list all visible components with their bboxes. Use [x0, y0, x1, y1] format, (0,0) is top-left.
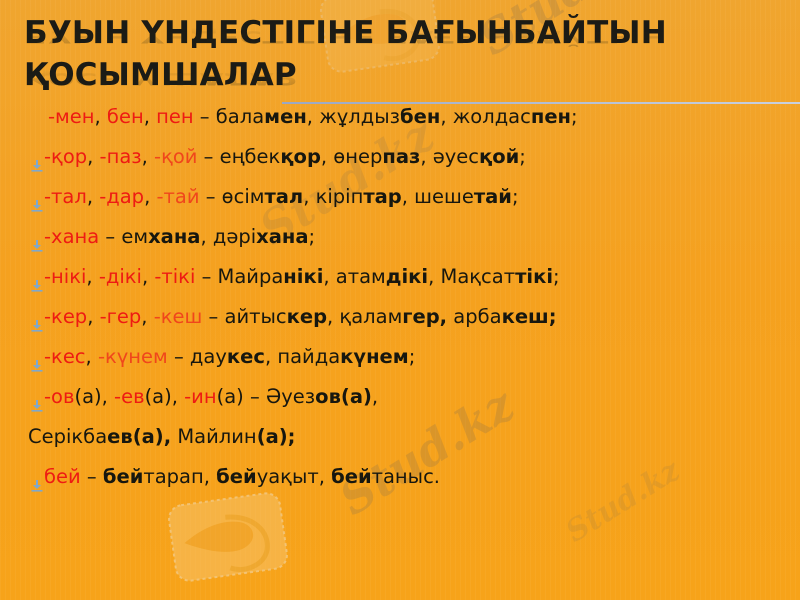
text-fragment: , [144, 185, 156, 208]
download-bullet-icon [30, 234, 44, 248]
download-bullet-icon [30, 394, 44, 408]
text-fragment: , [87, 185, 99, 208]
line-qor-paz-qoy: -қор, -паз, -қой – еңбекқор, өнерпаз, әу… [0, 144, 800, 184]
text-fragment: – бала [194, 105, 265, 128]
text-fragment: , [141, 305, 153, 328]
text-fragment: , жолдас [440, 105, 531, 128]
text-fragment: -кес [44, 345, 86, 368]
text-fragment: мен [55, 105, 94, 128]
text-fragment: арба [447, 305, 502, 328]
text-fragment: қой [479, 145, 519, 168]
text-fragment: , [87, 145, 99, 168]
text-fragment: -ев [114, 385, 145, 408]
text-fragment: -ов [44, 385, 74, 408]
slide-title: Буын үндестігіне бағынбайтын Буын үндест… [24, 14, 780, 98]
text-fragment: , дәрі [200, 225, 256, 248]
text-fragment: – Майра [195, 265, 283, 288]
title-line-2-wrap: қосымшалар қосымшалар [24, 56, 780, 98]
text-fragment: ев(а), [107, 425, 171, 448]
line-text: Серікбаев(а), Майлин(а); [28, 424, 295, 450]
line-text: -кес, -күнем – даукес, пайдакүнем; [28, 344, 415, 370]
text-fragment: (а), [74, 385, 114, 408]
line-text: -ов(а), -ев(а), -ин(а) – Әуезов(а), [28, 384, 378, 410]
text-fragment: хана [256, 225, 308, 248]
text-fragment: бен [107, 105, 144, 128]
text-fragment: бей [331, 465, 372, 488]
text-fragment: ; [519, 145, 526, 168]
line-ker-ger-kesh: -кер, -гер, -кеш – айтыскер, қаламгер, а… [0, 304, 800, 344]
text-fragment: -кеш [154, 305, 203, 328]
text-fragment: бей [103, 465, 144, 488]
text-fragment: - [48, 105, 55, 128]
text-fragment: , [86, 265, 98, 288]
text-fragment: пен [156, 105, 194, 128]
line-text: -мен, бен, пен – баламен, жұлдызбен, жол… [28, 104, 578, 130]
text-fragment: айтыс [225, 305, 287, 328]
line-niki-diki-tiki: -нікі, -дікі, -тікі – Майранікі, атамдік… [0, 264, 800, 304]
line-tal-dar-tay: -тал, -дар, -тай – өсімтал, кіріптар, ше… [0, 184, 800, 224]
title-line-1-wrap: Буын үндестігіне бағынбайтын Буын үндест… [24, 14, 780, 56]
line-ov-ev-in-cont: Серікбаев(а), Майлин(а); [0, 424, 800, 464]
text-fragment: , пайда [265, 345, 340, 368]
text-fragment: -күнем [98, 345, 168, 368]
text-fragment: мен [264, 105, 307, 128]
line-bey: бей – бейтарап, бейуақыт, бейтаныс. [0, 464, 800, 504]
text-fragment: тал [264, 185, 303, 208]
line-text: -хана – емхана, дәріхана; [28, 224, 315, 250]
text-fragment: ; [309, 225, 316, 248]
text-fragment: (а); [257, 425, 296, 448]
text-fragment: (а) – Әуез [217, 385, 316, 408]
text-fragment: – [168, 345, 190, 368]
text-fragment: -хана [44, 225, 99, 248]
text-fragment: , [86, 345, 98, 368]
text-fragment: өсім [222, 185, 265, 208]
text-fragment: -гер [100, 305, 142, 328]
line-text: -нікі, -дікі, -тікі – Майранікі, атамдік… [28, 264, 560, 290]
text-fragment: дікі [386, 265, 428, 288]
text-fragment: кеш; [502, 305, 557, 328]
text-fragment: паз [382, 145, 420, 168]
download-bullet-icon [30, 194, 44, 208]
text-fragment: тікі [515, 265, 553, 288]
text-fragment: уақыт, [257, 465, 331, 488]
text-fragment: бей [216, 465, 257, 488]
text-fragment: -қор [44, 145, 87, 168]
text-fragment: ; [409, 345, 416, 368]
download-bullet-icon [30, 474, 44, 488]
line-text: -қор, -паз, -қой – еңбекқор, өнерпаз, әу… [28, 144, 526, 170]
line-kes-kunem: -кес, -күнем – даукес, пайдакүнем; [0, 344, 800, 384]
text-fragment: тай [474, 185, 512, 208]
text-fragment: , шеше [402, 185, 474, 208]
text-fragment: , [144, 105, 156, 128]
text-fragment: -дар [99, 185, 144, 208]
text-fragment: нікі [283, 265, 323, 288]
line-men-ben-pen: -мен, бен, пен – баламен, жұлдызбен, жол… [0, 104, 800, 144]
page-title-line-1: Буын үндестігіне бағынбайтын [24, 14, 780, 52]
text-fragment: хана [148, 225, 200, 248]
text-fragment: -дікі [99, 265, 142, 288]
text-fragment: ; [553, 265, 560, 288]
text-fragment: – [200, 185, 222, 208]
text-fragment: , [142, 265, 154, 288]
download-bullet-icon [30, 354, 44, 368]
text-fragment: еңбек [220, 145, 281, 168]
text-fragment: -қой [154, 145, 197, 168]
text-fragment: , [142, 145, 154, 168]
text-fragment: бен [400, 105, 440, 128]
text-fragment: , өнер [321, 145, 382, 168]
text-fragment: -тікі [154, 265, 195, 288]
text-fragment: , кіріп [303, 185, 363, 208]
text-fragment: , қалам [327, 305, 402, 328]
text-fragment: ов(а) [315, 385, 372, 408]
text-fragment: тар [363, 185, 401, 208]
text-fragment: – ем [99, 225, 148, 248]
text-fragment: , атам [323, 265, 385, 288]
text-fragment: – [81, 465, 103, 488]
text-fragment: , [372, 385, 378, 408]
text-fragment: -кер [44, 305, 87, 328]
text-fragment: , Мақсат [428, 265, 515, 288]
download-bullet-icon [30, 274, 44, 288]
text-fragment: дау [190, 345, 227, 368]
text-fragment: ; [512, 185, 519, 208]
text-fragment: қор [280, 145, 321, 168]
text-fragment: -тай [156, 185, 199, 208]
text-fragment: гер, [402, 305, 447, 328]
text-fragment: ; [571, 105, 578, 128]
presentation-slide: Stud.kz Stud.kz Stud.kz Stud.kz Буын үнд… [0, 0, 800, 600]
text-fragment: , жұлдыз [307, 105, 400, 128]
line-text: бей – бейтарап, бейуақыт, бейтаныс. [28, 464, 440, 490]
suffix-list: -мен, бен, пен – баламен, жұлдызбен, жол… [0, 104, 800, 504]
text-fragment: -паз [100, 145, 142, 168]
text-fragment: таныс. [372, 465, 440, 488]
text-fragment: (а), [145, 385, 185, 408]
text-fragment: кес [227, 345, 265, 368]
text-fragment: , [87, 305, 99, 328]
text-fragment: -тал [44, 185, 87, 208]
text-fragment: -нікі [44, 265, 86, 288]
text-fragment: , [95, 105, 107, 128]
page-title-line-2: қосымшалар [24, 56, 780, 94]
text-fragment: – [197, 145, 219, 168]
text-fragment: Серікба [28, 425, 107, 448]
line-ov-ev-in: -ов(а), -ев(а), -ин(а) – Әуезов(а), [0, 384, 800, 424]
text-fragment: тарап, [143, 465, 216, 488]
text-fragment: күнем [340, 345, 409, 368]
download-bullet-icon [30, 314, 44, 328]
text-fragment: – [202, 305, 224, 328]
text-fragment: бей [44, 465, 81, 488]
text-fragment: пен [531, 105, 571, 128]
line-text: -тал, -дар, -тай – өсімтал, кіріптар, ше… [28, 184, 519, 210]
line-text: -кер, -гер, -кеш – айтыскер, қаламгер, а… [28, 304, 557, 330]
text-fragment: кер [287, 305, 327, 328]
download-bullet-icon [30, 154, 44, 168]
line-hana: -хана – емхана, дәріхана; [0, 224, 800, 264]
text-fragment: -ин [184, 385, 216, 408]
text-fragment: Майлин [171, 425, 257, 448]
text-fragment: , әуес [420, 145, 479, 168]
